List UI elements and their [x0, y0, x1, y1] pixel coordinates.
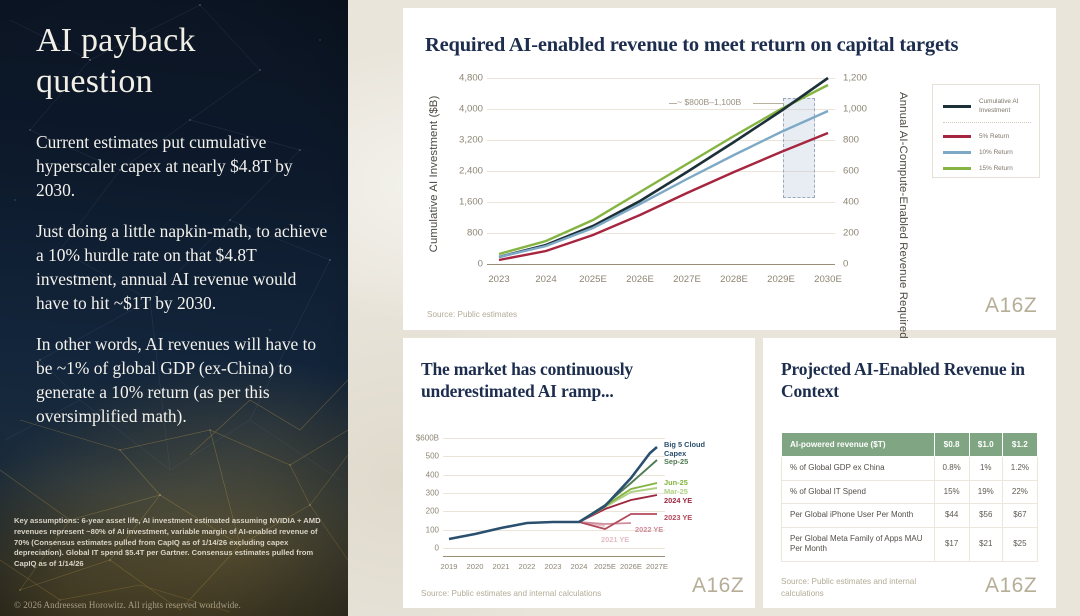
chart-plot-required-revenue: 0 800 1,600 2,400 3,200 4,000 4,800 0 20…: [487, 78, 835, 265]
body-paragraph-3: In other words, AI revenues will have to…: [36, 332, 332, 428]
table-row: % of Global IT Spend 15% 19% 22%: [782, 480, 1038, 504]
x-tick: 2027E: [673, 274, 701, 285]
column-header-metric: AI-powered revenue ($T): [782, 433, 935, 457]
chart-title-required-revenue: Required AI-enabled revenue to meet retu…: [425, 34, 958, 57]
legend-divider: [943, 122, 1031, 123]
chart-legend: Cumulative AI Investment 5% Return 10% R…: [932, 84, 1040, 178]
x-tick: 2020: [467, 562, 484, 571]
series-line-10-return: [499, 111, 828, 257]
legend-label: 15% Return: [979, 164, 1013, 173]
legend-item-cumulative[interactable]: Cumulative AI Investment: [943, 97, 1039, 116]
y-tick: $600B: [403, 434, 439, 443]
y-tick-right: 0: [843, 259, 848, 270]
chart-plot-capex-ramp: 0 100 200 300 400 500 $600B 2019 2020 20…: [443, 438, 665, 548]
x-tick: 2023: [545, 562, 562, 571]
key-assumptions-note: Key assumptions: 6-year asset life, AI i…: [14, 516, 334, 570]
series-label-2021-ye: 2021 YE: [601, 536, 629, 545]
row-value: 15%: [934, 480, 969, 504]
a16z-logo-table: A16Z: [985, 574, 1037, 598]
a16z-logo-main: A16Z: [985, 294, 1037, 318]
y-tick-right: 400: [843, 197, 859, 208]
y-tick: 100: [407, 526, 439, 535]
y-tick-right: 1,200: [843, 73, 867, 84]
column-header-1-0: $1.0: [969, 433, 1002, 457]
legend-label: 5% Return: [979, 132, 1009, 141]
row-value: $17: [934, 527, 969, 561]
row-label: % of Global IT Spend: [782, 480, 935, 504]
y-tick-left: 4,000: [443, 104, 483, 115]
body-paragraph-1: Current estimates put cumulative hypersc…: [36, 130, 332, 202]
row-value: $25: [1002, 527, 1037, 561]
chart-source-required-revenue: Source: Public estimates: [427, 309, 517, 321]
row-value: $44: [934, 504, 969, 528]
series-line-15-return: [499, 85, 828, 254]
y-tick-left: 3,200: [443, 135, 483, 146]
ramp-series-lines: [443, 438, 665, 560]
x-tick: 2024: [535, 274, 556, 285]
legend-swatch-icon: [943, 151, 971, 154]
body-paragraph-2: Just doing a little napkin-math, to achi…: [36, 219, 332, 315]
y-tick-left: 2,400: [443, 166, 483, 177]
y-tick: 0: [407, 544, 439, 553]
row-value: 1%: [969, 457, 1002, 481]
y-tick-right: 1,000: [843, 104, 867, 115]
row-value: $67: [1002, 504, 1037, 528]
table-row: Per Global Meta Family of Apps MAU Per M…: [782, 527, 1038, 561]
y-tick: 200: [407, 507, 439, 516]
annotation-label: ~ $800B–1,100B: [677, 97, 741, 107]
y-tick: 400: [407, 471, 439, 480]
x-tick: 2030E: [814, 274, 842, 285]
y-tick: 500: [407, 452, 439, 461]
legend-item-10-return[interactable]: 10% Return: [943, 148, 1013, 157]
body-copy: Current estimates put cumulative hypersc…: [36, 130, 332, 445]
x-tick: 2024: [571, 562, 588, 571]
x-tick: 2019: [441, 562, 458, 571]
annotation-leader-line: [669, 103, 677, 104]
y-tick-left: 800: [443, 228, 483, 239]
x-tick: 2026E: [626, 274, 654, 285]
row-label: % of Global GDP ex China: [782, 457, 935, 481]
y-tick-left: 4,800: [443, 73, 483, 84]
row-value: 19%: [969, 480, 1002, 504]
y-tick: 300: [407, 489, 439, 498]
x-tick: 2029E: [767, 274, 795, 285]
table-row: % of Global GDP ex China 0.8% 1% 1.2%: [782, 457, 1038, 481]
y-axis-title-left: Cumulative AI Investment ($B): [428, 96, 440, 253]
series-label-sep-25: Sep-25: [664, 458, 688, 467]
x-tick: 2025E: [594, 562, 616, 571]
row-value: 1.2%: [1002, 457, 1037, 481]
y-tick-right: 800: [843, 135, 859, 146]
series-lines: [487, 78, 835, 265]
y-axis-title-right: Annual AI-Compute-Enabled Revenue Requir…: [896, 92, 910, 268]
column-header-1-2: $1.2: [1002, 433, 1037, 457]
x-tick: 2021: [493, 562, 510, 571]
y-tick-left: 0: [443, 259, 483, 270]
row-value: $21: [969, 527, 1002, 561]
y-tick-left: 1,600: [443, 197, 483, 208]
legend-item-15-return[interactable]: 15% Return: [943, 164, 1013, 173]
a16z-logo-ramp: A16Z: [692, 574, 744, 598]
row-label: Per Global Meta Family of Apps MAU Per M…: [782, 527, 935, 561]
section-title-revenue-context: Projected AI-Enabled Revenue in Context: [781, 358, 1031, 403]
row-value: 0.8%: [934, 457, 969, 481]
row-label: Per Global iPhone User Per Month: [782, 504, 935, 528]
x-tick: 2027E: [646, 562, 668, 571]
copyright-notice: © 2026 Andreessen Horowitz. All rights r…: [14, 600, 344, 610]
series-line-cumulative: [499, 78, 828, 257]
x-tick: 2026E: [620, 562, 642, 571]
legend-swatch-icon: [943, 105, 971, 108]
title-panel: AI payback question Current estimates pu…: [0, 0, 348, 616]
series-label-2023-ye: 2023 YE: [664, 514, 692, 523]
legend-item-5-return[interactable]: 5% Return: [943, 132, 1009, 141]
page-title: AI payback question: [36, 20, 316, 103]
legend-swatch-icon: [943, 135, 971, 138]
chart-title-capex-ramp: The market has continuously underestimat…: [421, 358, 731, 403]
table-source: Source: Public estimates and internal ca…: [781, 576, 956, 600]
series-label-2022-ye: 2022 YE: [635, 526, 663, 535]
table-header-row: AI-powered revenue ($T) $0.8 $1.0 $1.2: [782, 433, 1038, 457]
x-tick: 2023: [488, 274, 509, 285]
table-row: Per Global iPhone User Per Month $44 $56…: [782, 504, 1038, 528]
row-value: $56: [969, 504, 1002, 528]
column-header-0-8: $0.8: [934, 433, 969, 457]
chart-source-capex-ramp: Source: Public estimates and internal ca…: [421, 588, 601, 600]
y-tick-right: 600: [843, 166, 859, 177]
y-tick-right: 200: [843, 228, 859, 239]
series-label-2024-ye: 2024 YE: [664, 497, 692, 506]
legend-label: 10% Return: [979, 148, 1013, 157]
legend-label: Cumulative AI Investment: [979, 97, 1039, 116]
legend-swatch-icon: [943, 167, 971, 170]
x-tick: 2028E: [720, 274, 748, 285]
x-tick: 2025E: [579, 274, 607, 285]
row-value: 22%: [1002, 480, 1037, 504]
revenue-context-table: AI-powered revenue ($T) $0.8 $1.0 $1.2 %…: [781, 432, 1038, 562]
x-tick: 2022: [519, 562, 536, 571]
annotation-leader-line: [753, 103, 783, 104]
